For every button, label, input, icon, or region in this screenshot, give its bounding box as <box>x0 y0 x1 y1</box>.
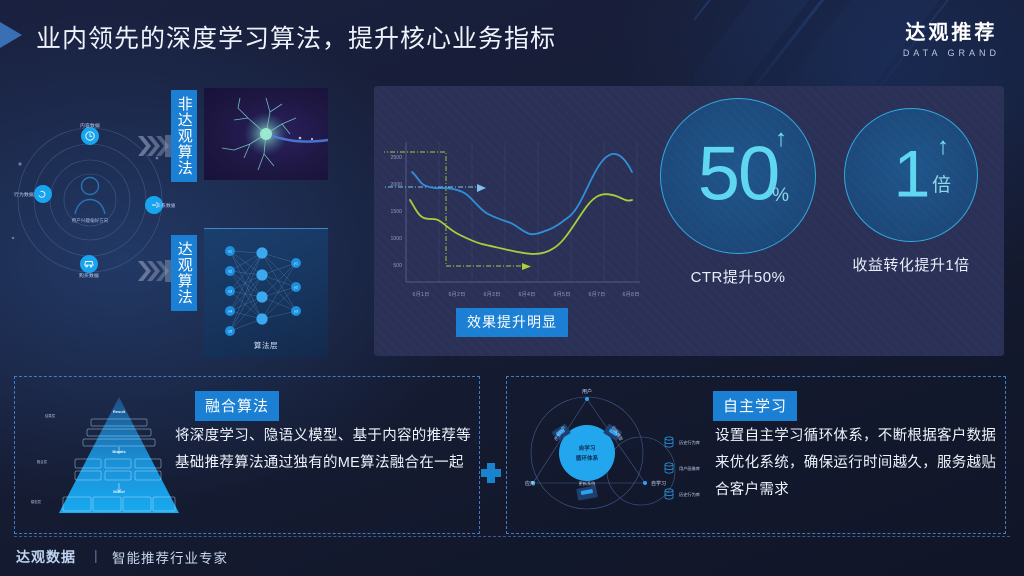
logo-english-text: DATA GRAND <box>903 48 1000 58</box>
radar-center-label: 用户兴趣偏好方向 <box>72 217 109 224</box>
svg-text:6月5日: 6月5日 <box>554 291 571 298</box>
chevron-arrows-icon-bottom <box>136 258 176 291</box>
performance-line-chart: 2500 2000 1500 1000 500 6月1日 6月2日 <box>384 124 644 324</box>
cycle-store-label-1: 历史行为库 <box>679 439 700 446</box>
cycle-center-line2: 循环体系 <box>576 454 599 462</box>
cycle-store-label-3: 历史行为库 <box>679 491 700 498</box>
svg-text:融合层: 融合层 <box>37 459 48 464</box>
svg-text:6月4日: 6月4日 <box>519 291 536 298</box>
neural-network-caption: 算法层 <box>204 340 328 351</box>
arrow-right-marker-icon <box>0 22 22 48</box>
brand-logo: 达观推荐 DATA GRAND <box>903 16 1000 58</box>
metric-ctr: 50 % ↑ CTR提升50% <box>660 98 816 287</box>
metric-unit-ctr: % <box>772 185 789 207</box>
chevron-arrows-icon-top <box>136 133 176 166</box>
svg-text:500: 500 <box>393 263 402 269</box>
svg-text:1500: 1500 <box>390 209 402 215</box>
radar-node-label-behavior: 行为数据 <box>14 191 34 198</box>
footer-tagline: 智能推荐行业专家 <box>112 547 228 567</box>
self-learning-cycle-diagram: 自学习 循环体系 产生行为 训练模型 更新系统 用户 应用 自学习 <box>517 387 717 523</box>
footer-separator: | <box>94 547 98 563</box>
radar-node-label-content: 内容数据 <box>80 122 100 129</box>
neural-network-diagram: x1x2x3 x4x5 y1y2y3 算法层 <box>204 228 328 358</box>
svg-text:2500: 2500 <box>390 155 402 161</box>
svg-text:结果层: 结果层 <box>45 413 56 418</box>
metric-circle-revenue: 1 倍 ↑ <box>844 108 978 242</box>
cycle-node-application: 应用 <box>525 480 535 487</box>
card-fusion-algorithm: Result Blends Model <box>14 376 480 534</box>
svg-text:6月1日: 6月1日 <box>413 291 430 298</box>
card-badge-fusion: 融合算法 <box>195 391 279 421</box>
svg-text:模型层: 模型层 <box>31 499 42 504</box>
svg-text:6月2日: 6月2日 <box>449 291 466 298</box>
metric-value-ctr: 50 <box>661 136 815 212</box>
card-text-fusion: 将深度学习、隐语义模型、基于内容的推荐等基础推荐算法通过独有的ME算法融合在一起 <box>175 423 475 477</box>
metric-unit-revenue: 倍 <box>932 170 951 197</box>
svg-text:6月3日: 6月3日 <box>484 291 501 298</box>
svg-text:1000: 1000 <box>390 236 402 242</box>
up-arrow-icon-ctr: ↑ <box>775 127 787 151</box>
slide-header: 业内领先的深度学习算法，提升核心业务指标 达观推荐 DATA GRAND <box>0 0 1024 76</box>
cycle-center-line1: 自学习 <box>579 444 596 452</box>
chart-result-badge: 效果提升明显 <box>456 308 568 337</box>
metric-value-revenue: 1 <box>845 141 977 207</box>
cycle-arc-label-3: 更新系统 <box>579 480 596 487</box>
footer-divider <box>14 536 1010 537</box>
label-datagrand-algorithm: 达观算法 <box>171 235 197 311</box>
metric-revenue: 1 倍 ↑ 收益转化提升1倍 <box>844 108 978 275</box>
svg-text:6月8日: 6月8日 <box>623 291 640 298</box>
page-title: 业内领先的深度学习算法，提升核心业务指标 <box>36 19 556 55</box>
card-text-self-learning: 设置自主学习循环体系，不断根据客户数据来优化系统，确保运行时间越久，服务越贴合客… <box>715 423 1003 503</box>
radar-node-label-relation: 关系数据 <box>156 202 175 209</box>
card-badge-self-learning: 自主学习 <box>713 391 797 421</box>
pyramid-diagram: Result Blends Model <box>31 391 181 519</box>
metric-circle-ctr: 50 % ↑ <box>660 98 816 254</box>
logo-chinese-text: 达观推荐 <box>903 16 1000 45</box>
svg-text:Result: Result <box>113 409 126 414</box>
cycle-store-label-2: 用户画像库 <box>679 465 700 472</box>
radar-node-label-purchase: 购买数据 <box>79 272 99 279</box>
neuron-illustration <box>204 88 328 180</box>
slide-footer: 达观数据 | 智能推荐行业专家 <box>0 536 1024 576</box>
up-arrow-icon-revenue: ↑ <box>937 135 949 159</box>
label-non-datagrand-algorithm: 非达观算法 <box>171 90 197 182</box>
plus-connector-icon <box>480 462 502 484</box>
cycle-node-selflearning: 自学习 <box>651 480 666 487</box>
results-panel: 2500 2000 1500 1000 500 6月1日 6月2日 <box>374 86 1004 356</box>
cycle-node-user: 用户 <box>582 388 592 395</box>
footer-brand: 达观数据 <box>16 547 76 567</box>
metric-caption-revenue: 收益转化提升1倍 <box>844 254 978 275</box>
card-self-learning: 自学习 循环体系 产生行为 训练模型 更新系统 用户 应用 自学习 <box>506 376 1006 534</box>
metric-caption-ctr: CTR提升50% <box>660 266 816 287</box>
svg-text:6月7日: 6月7日 <box>589 291 606 298</box>
